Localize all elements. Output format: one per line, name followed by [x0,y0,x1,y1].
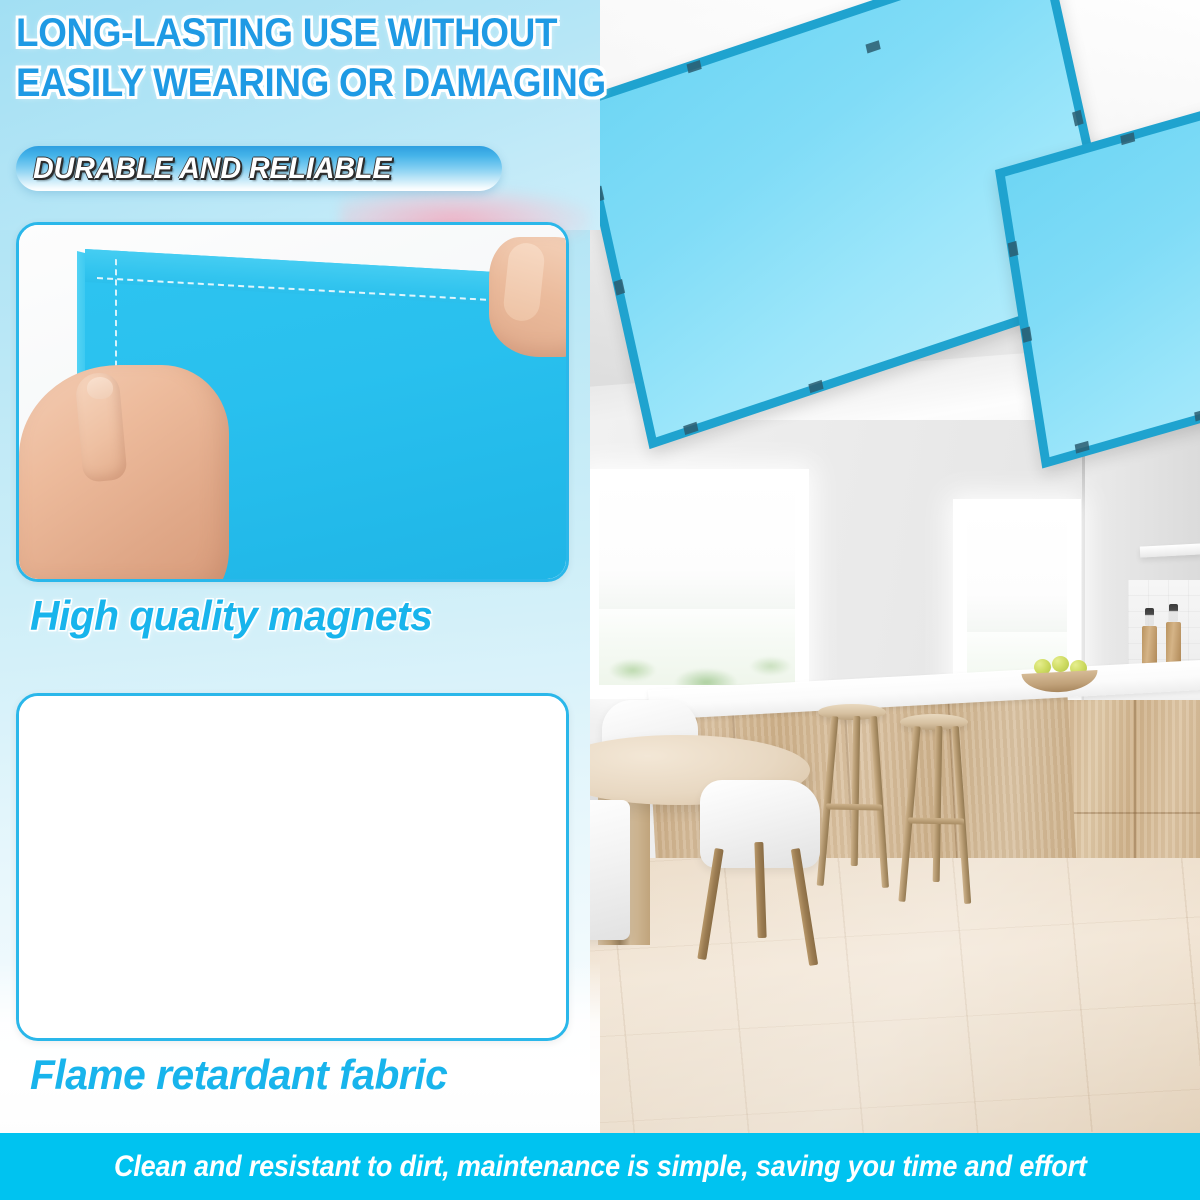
infographic-root: LONG-LASTING USE WITHOUT EASILY WEARING … [0,0,1200,1200]
feature-card-fabric [16,693,569,1041]
page-title: LONG-LASTING USE WITHOUT EASILY WEARING … [16,8,697,108]
fabric-hand-photo [19,225,566,579]
bottom-banner-text: Clean and resistant to dirt, maintenance… [114,1150,1087,1184]
window-left [594,478,800,690]
fruit-apple-2 [1052,656,1069,672]
thumbnail [87,377,113,399]
cabinet-seam-h1 [1060,812,1200,814]
bottom-banner: Clean and resistant to dirt, maintenance… [0,1133,1200,1200]
fabric-card-photo-area [19,696,566,1038]
feature-card-magnets [16,222,569,582]
window-left-frame [594,478,800,690]
feature-card-magnets-caption: High quality magnets [30,592,432,640]
bar-stool-left-rung [826,804,882,811]
feature-card-fabric-caption: Flame retardant fabric [30,1051,447,1099]
status-badge: DURABLE AND RELIABLE [16,146,502,191]
bar-stool-right-rung [908,818,964,825]
status-badge-label: DURABLE AND RELIABLE [16,152,391,186]
